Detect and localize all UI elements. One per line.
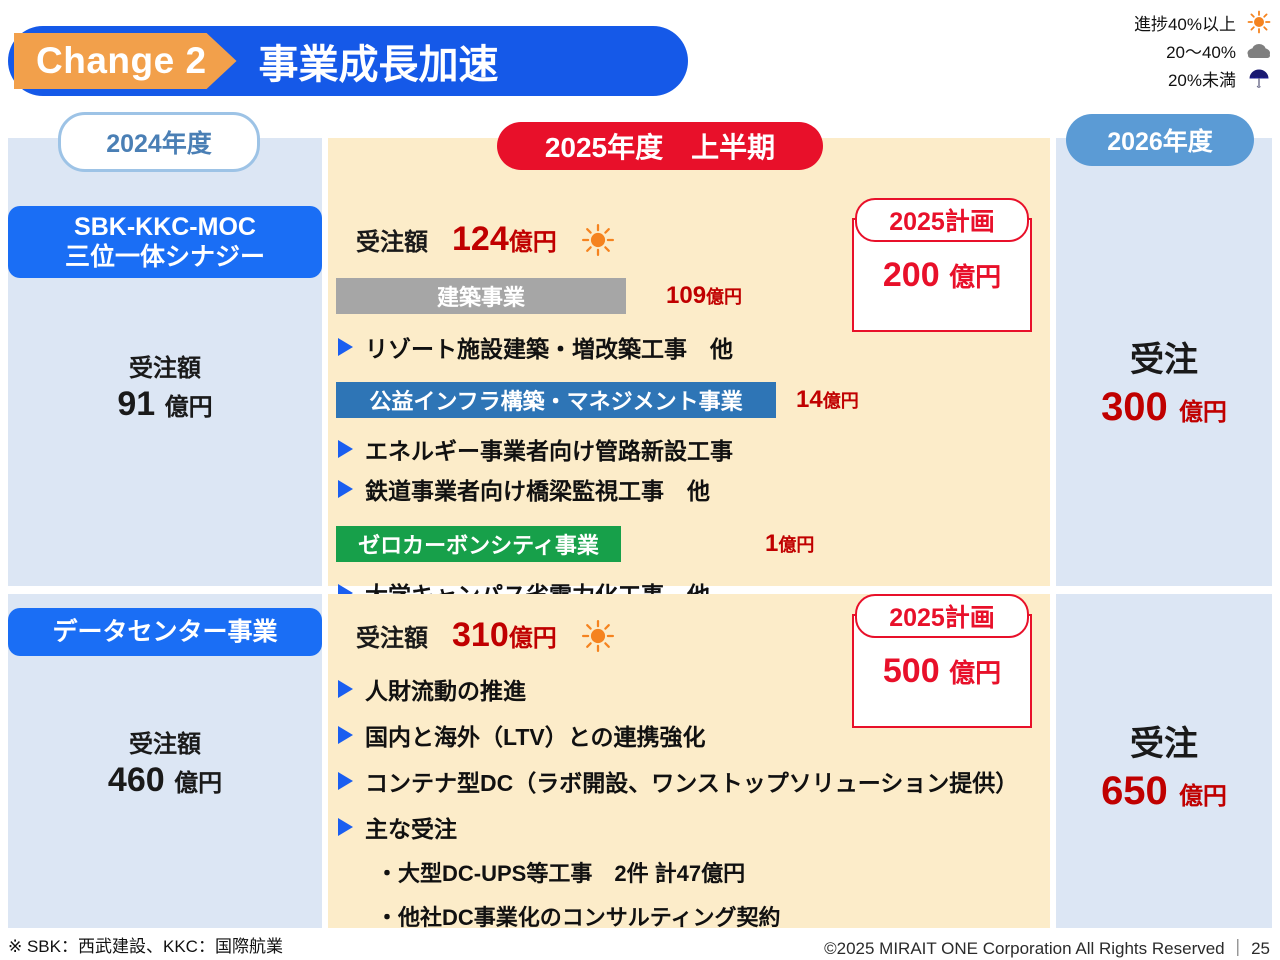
row1-fy2026-value-wrap: 300 億円: [1056, 385, 1272, 430]
row1-bullet-0-0: リゾート施設建築・増改築工事 他: [338, 330, 733, 364]
footer-note: ※ SBK：西武建設、KKC：国際航業: [8, 932, 283, 957]
legend-label-cloud: 20〜40%: [1166, 38, 1236, 63]
row1-left-panel: SBK-KKC-MOC 三位一体シナジー 受注額 91 億円: [8, 138, 322, 586]
row2-center-panel: 受注額 310億円: [328, 594, 1050, 928]
row2-fy2026-amount: 受注 650 億円: [1056, 716, 1272, 814]
row1-bullet-text-1-1: 鉄道事業者向け橋梁監視工事 他: [365, 472, 710, 506]
row1-category-amount-2: 1億円: [765, 530, 814, 558]
sun-icon: [1246, 10, 1272, 34]
slide-title-bar: Change 2 事業成長加速: [8, 26, 688, 96]
row2-fy2024-amount: 受注額 460 億円: [8, 724, 322, 800]
row1-plan-value-wrap: 200 億円: [883, 256, 1001, 295]
row1-bullet-text-1-0: エネルギー事業者向け管路新設工事: [365, 432, 733, 466]
row1-category-amount-value-2: 1: [765, 530, 778, 557]
row2-subbullet-0: ・大型DC-UPS等工事 2件 計47億円: [376, 856, 745, 888]
row2-bullet-text-3: 主な受注: [365, 810, 457, 844]
row2-fy2026-unit: 億円: [1179, 783, 1227, 810]
row2-order-label: 受注額: [356, 618, 428, 653]
row2-fy2026-value-wrap: 650 億円: [1056, 769, 1272, 814]
row2-right-panel: 受注 650 億円: [1056, 594, 1272, 928]
triangle-bullet-icon: [338, 480, 353, 498]
row1-category-bar-1: 公益インフラ構築・マネジメント事業: [336, 382, 776, 418]
legend-label-sun: 進捗40%以上: [1134, 10, 1236, 35]
change-chevron: Change 2: [14, 33, 237, 89]
row1-order-value: 124: [452, 220, 509, 258]
row1-fy2024-value-wrap: 91 億円: [8, 385, 322, 424]
row1-category-bar-0: 建築事業: [336, 278, 626, 314]
row1-right-panel: 受注 300 億円: [1056, 138, 1272, 586]
row1-fy2026-amount: 受注 300 億円: [1056, 332, 1272, 430]
row2-fy2024-label: 受注額: [8, 724, 322, 759]
row1-fy2024-amount: 受注額 91 億円: [8, 348, 322, 424]
row1-plan-caption-pill: 2025計画: [855, 198, 1029, 242]
row2-fy2024-value: 460: [108, 761, 165, 799]
column-header-2024-label: 2024年度: [106, 124, 212, 160]
row1-bullet-text-0-0: リゾート施設建築・増改築工事 他: [365, 330, 733, 364]
row2-bullet-3: 主な受注: [338, 810, 457, 844]
row1-fy2026-label: 受注: [1056, 332, 1272, 381]
row2-order-value: 310: [452, 616, 509, 654]
legend-item-cloud: 20〜40%: [1072, 36, 1272, 64]
row1-category-amount-value-1: 14: [796, 386, 823, 413]
row1-bullet-1-0: エネルギー事業者向け管路新設工事: [338, 432, 733, 466]
page-title: 事業成長加速: [259, 32, 499, 90]
row2-left-panel: データセンター事業 受注額 460 億円: [8, 594, 322, 928]
row2-fy2024-value-wrap: 460 億円: [8, 761, 322, 800]
row2-bullet-text-0: 人財流動の推進: [365, 672, 526, 706]
change-label: Change 2: [36, 40, 207, 82]
legend-label-umbrella: 20%未満: [1168, 66, 1236, 91]
row2-fy2024-unit: 億円: [174, 770, 222, 797]
row1-plan-caption: 2025計画: [889, 202, 995, 238]
row1-plan-box: 200 億円 2025計画: [852, 198, 1028, 330]
column-header-2026: 2026年度: [1066, 114, 1254, 166]
column-header-2024: 2024年度: [58, 112, 260, 172]
triangle-bullet-icon: [338, 440, 353, 458]
triangle-bullet-icon: [338, 338, 353, 356]
row1-category-amount-value-0: 109: [666, 282, 706, 309]
row2-fy2026-label: 受注: [1056, 716, 1272, 765]
umbrella-icon: [1246, 66, 1272, 90]
row1-business-tag-line1: SBK-KKC-MOC: [74, 212, 256, 242]
row2-business-tag: データセンター事業: [8, 608, 322, 656]
row1-category-bar-2: ゼロカーボンシティ事業: [336, 526, 621, 562]
triangle-bullet-icon: [338, 726, 353, 744]
progress-legend: 進捗40%以上 20〜40%: [1072, 8, 1272, 92]
row2-order-unit: 億円: [509, 625, 557, 652]
row1-category-amount-unit-0: 億円: [706, 287, 742, 307]
row2-plan-unit: 億円: [949, 658, 1001, 688]
row2-fy2026-value: 650: [1101, 769, 1168, 813]
row1-category-amount-unit-1: 億円: [823, 391, 859, 411]
triangle-bullet-icon: [338, 680, 353, 698]
row2-order-amount: 310億円: [452, 616, 557, 655]
row1-fy2026-value: 300: [1101, 385, 1168, 429]
row2-business-tag-line1: データセンター事業: [52, 617, 277, 647]
row1-fy2024-label: 受注額: [8, 348, 322, 383]
row2-plan-caption: 2025計画: [889, 598, 995, 634]
row2-bullet-text-1: 国内と海外（LTV）との連携強化: [365, 718, 706, 752]
row1-order-line: 受注額 124億円: [356, 220, 615, 259]
sun-icon: [581, 619, 615, 653]
row1-order-label: 受注額: [356, 222, 428, 257]
row1-business-tag: SBK-KKC-MOC 三位一体シナジー: [8, 206, 322, 278]
row1-center-panel: 受注額 124億円 建築: [328, 138, 1050, 586]
row1-bullet-1-1: 鉄道事業者向け橋梁監視工事 他: [338, 472, 710, 506]
row1-fy2026-unit: 億円: [1179, 399, 1227, 426]
row2-plan-caption-pill: 2025計画: [855, 594, 1029, 638]
row1-business-tag-line2: 三位一体シナジー: [65, 242, 265, 272]
row1-category-amount-1: 14億円: [796, 386, 859, 414]
row2-bullet-2: コンテナ型DC（ラボ開設、ワンストップソリューション提供）: [338, 764, 1018, 798]
row2-plan-value: 500: [883, 652, 940, 690]
triangle-bullet-icon: [338, 772, 353, 790]
row1-order-amount: 124億円: [452, 220, 557, 259]
row1-plan-value: 200: [883, 256, 940, 294]
row1-fy2024-unit: 億円: [165, 394, 213, 421]
legend-item-sun: 進捗40%以上: [1072, 8, 1272, 36]
legend-item-umbrella: 20%未満: [1072, 64, 1272, 92]
row2-bullet-0: 人財流動の推進: [338, 672, 526, 706]
triangle-bullet-icon: [338, 818, 353, 836]
row1-plan-unit: 億円: [949, 262, 1001, 292]
row1-category-amount-0: 109億円: [666, 282, 742, 310]
row2-subbullet-1: ・他社DC事業化のコンサルティング契約: [376, 900, 780, 932]
footer-copyright: ©2025 MIRAIT ONE Corporation All Rights …: [824, 934, 1270, 959]
column-header-2025-half-label: 2025年度 上半期: [545, 126, 775, 166]
row1-fy2024-value: 91: [117, 385, 155, 423]
row2-bullet-text-2: コンテナ型DC（ラボ開設、ワンストップソリューション提供）: [365, 764, 1018, 798]
row1-category-amount-unit-2: 億円: [778, 535, 814, 555]
slide-root: Change 2 事業成長加速 進捗40%以上 20〜40%: [0, 0, 1280, 960]
row1-order-unit: 億円: [509, 229, 557, 256]
row2-bullet-1: 国内と海外（LTV）との連携強化: [338, 718, 706, 752]
cloud-icon: [1246, 40, 1272, 60]
content-grid: SBK-KKC-MOC 三位一体シナジー 受注額 91 億円 受注額 124億円: [0, 110, 1280, 928]
column-header-2025-half: 2025年度 上半期: [497, 122, 823, 170]
column-header-2026-label: 2026年度: [1107, 122, 1213, 158]
row2-plan-box: 500 億円 2025計画: [852, 594, 1028, 726]
sun-icon: [581, 223, 615, 257]
row2-plan-value-wrap: 500 億円: [883, 652, 1001, 691]
row2-order-line: 受注額 310億円: [356, 616, 615, 655]
